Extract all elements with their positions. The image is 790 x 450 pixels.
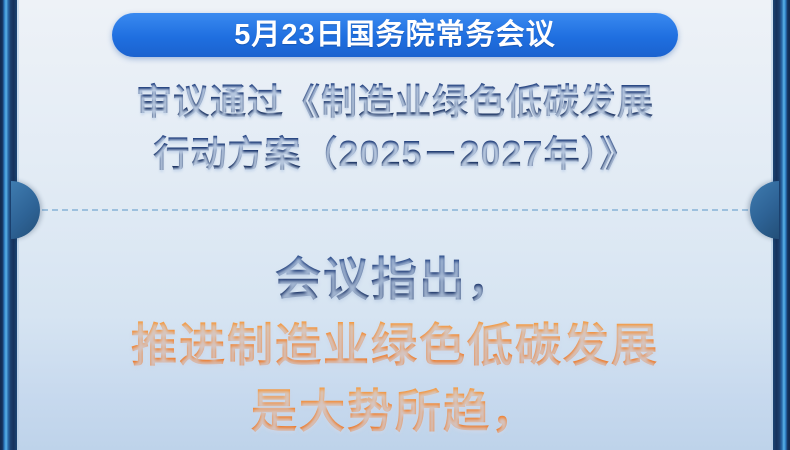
statement-line-2: 推进制造业绿色低碳发展 (24, 312, 766, 378)
headline-block: 审议通过《制造业绿色低碳发展 行动方案（2025－2027年）》 (30, 76, 760, 180)
dashed-divider (42, 209, 748, 211)
poster-canvas: 5月23日国务院常务会议 审议通过《制造业绿色低碳发展 行动方案（2025－20… (0, 0, 790, 450)
statement-block: 会议指出， 推进制造业绿色低碳发展 是大势所趋， (24, 246, 766, 444)
meeting-date-badge: 5月23日国务院常务会议 (112, 13, 678, 57)
statement-line-1: 会议指出， (24, 246, 766, 312)
right-semicircle-notch (750, 181, 779, 239)
headline-line-2: 行动方案（2025－2027年）》 (30, 128, 760, 180)
left-semicircle-notch (11, 181, 40, 239)
meeting-date-badge-label: 5月23日国务院常务会议 (234, 21, 555, 50)
statement-line-3: 是大势所趋， (24, 378, 766, 444)
badge-row: 5月23日国务院常务会议 (0, 13, 790, 57)
headline-line-1: 审议通过《制造业绿色低碳发展 (30, 76, 760, 128)
